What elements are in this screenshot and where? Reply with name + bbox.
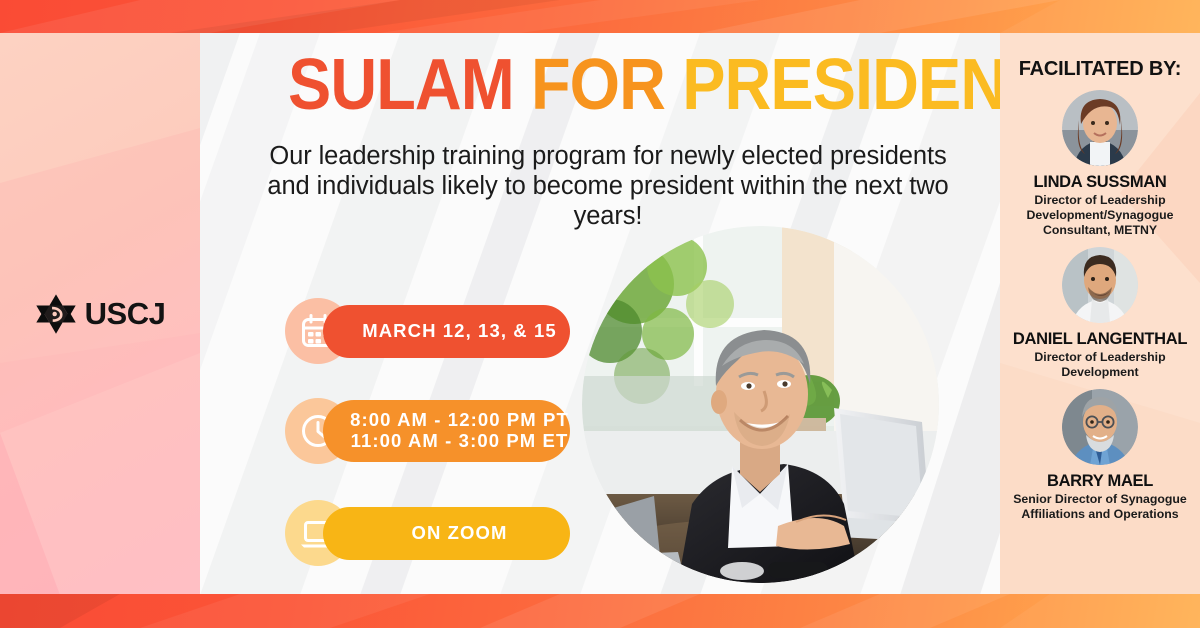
star-of-david-icon: [35, 293, 77, 335]
detail-label-date: MARCH 12, 13, & 15: [323, 305, 570, 358]
barry-mael-avatar: [1062, 389, 1138, 465]
daniel-langenthal-avatar: [1062, 247, 1138, 323]
smiling-man-at-laptop-photo: [582, 226, 939, 583]
facilitator-name: BARRY MAEL: [1047, 472, 1153, 491]
time-line-2: 11:00 AM - 3:00 PM ET: [351, 431, 569, 452]
title-part-presidents: PRESIDENTS: [682, 45, 1000, 125]
hero-photo: [582, 226, 939, 583]
uscj-logo-text: USCJ: [85, 296, 166, 332]
detail-label-time: 8:00 AM - 12:00 PM PT 11:00 AM - 3:00 PM…: [323, 400, 570, 462]
detail-row-time: 8:00 AM - 12:00 PM PT 11:00 AM - 3:00 PM…: [285, 398, 570, 464]
bottom-decorative-band: [0, 594, 1200, 628]
avatar-photo: [1062, 90, 1138, 166]
platform-line-1: ON ZOOM: [411, 522, 507, 544]
facilitator-role: Director of Leadership Development: [1012, 350, 1188, 380]
page-title: SULAM FOR PRESIDENTS: [288, 50, 936, 121]
facilitators-heading: FACILITATED BY:: [1019, 58, 1182, 81]
facilitator-name: LINDA SUSSMAN: [1034, 173, 1167, 192]
facilitator-role: Senior Director of Synagogue Affiliation…: [1012, 492, 1188, 522]
avatar-photo: [1062, 389, 1138, 465]
detail-label-platform: ON ZOOM: [323, 507, 570, 560]
facilitator-card: LINDA SUSSMAN Director of Leadership Dev…: [1000, 81, 1200, 238]
page-subtitle: Our leadership training program for newl…: [248, 141, 968, 231]
linda-sussman-avatar: [1062, 90, 1138, 166]
bottom-band-facets: [0, 594, 1200, 628]
facilitators-panel: FACILITATED BY: L: [1000, 33, 1200, 595]
main-content-panel: SULAM FOR PRESIDENTS Our leadership trai…: [200, 33, 1000, 595]
time-line-1: 8:00 AM - 12:00 PM PT: [350, 410, 569, 431]
title-part-sulam: SULAM: [288, 45, 514, 125]
facilitator-card: DANIEL LANGENTHAL Director of Leadership…: [1000, 238, 1200, 380]
avatar-photo: [1062, 247, 1138, 323]
facilitator-name: DANIEL LANGENTHAL: [1013, 330, 1187, 349]
left-brand-panel: USCJ: [0, 33, 200, 595]
top-band-facets: [0, 0, 1200, 33]
uscj-logo: USCJ: [0, 33, 200, 595]
facilitator-role: Director of Leadership Development/Synag…: [1012, 193, 1188, 238]
title-part-for: FOR: [531, 45, 665, 125]
detail-row-platform: ON ZOOM: [285, 500, 570, 566]
date-line-1: MARCH 12, 13, & 15: [362, 320, 557, 342]
top-decorative-band: [0, 0, 1200, 33]
detail-row-date: MARCH 12, 13, & 15: [285, 298, 570, 364]
facilitator-card: BARRY MAEL Senior Director of Synagogue …: [1000, 380, 1200, 522]
